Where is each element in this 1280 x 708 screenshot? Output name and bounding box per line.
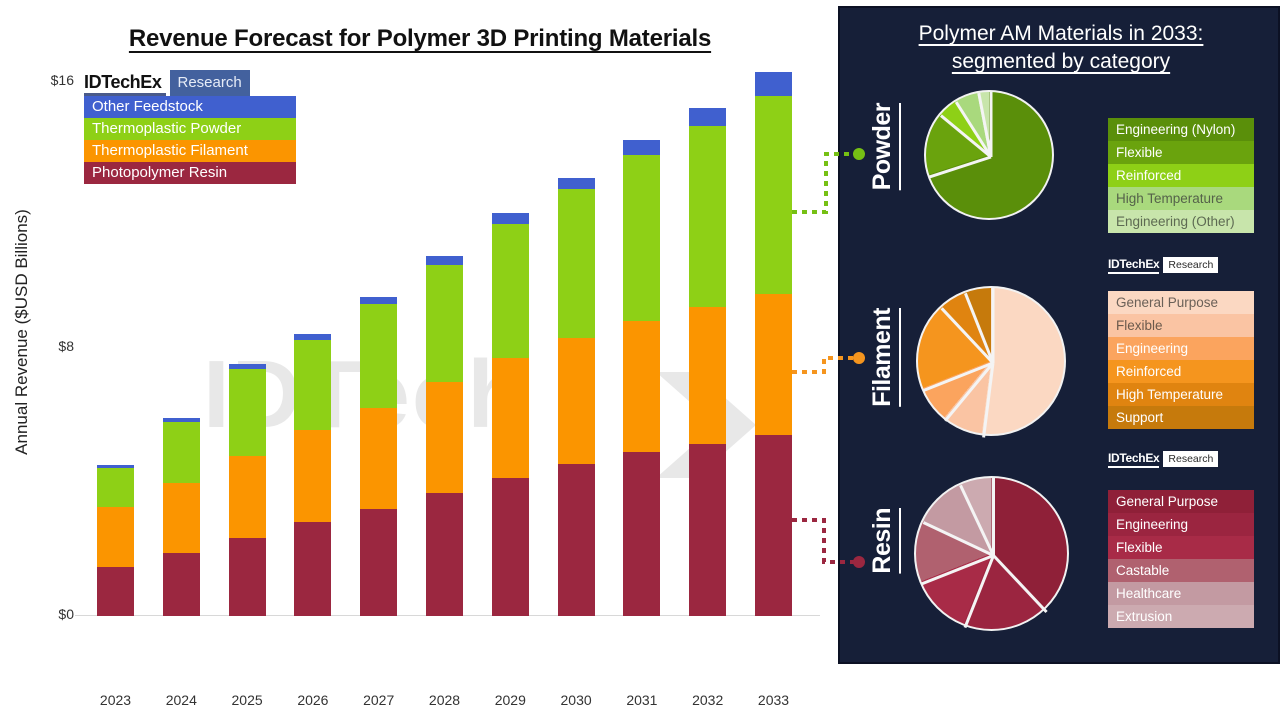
brand-research-badge: Research [170, 70, 250, 96]
legend-item-photopolymer-resin[interactable]: Photopolymer Resin [84, 162, 296, 184]
pie-dividers-resin [914, 476, 1073, 635]
brand-research-badge: Research [1163, 451, 1218, 467]
bar-segment-photopolymer-resin [163, 553, 200, 616]
pie-legend-item-engineering[interactable]: Engineering [1108, 337, 1254, 360]
pie-legend-item-general-purpose[interactable]: General Purpose [1108, 490, 1254, 513]
brand-logo-mini-2: IDTechExResearch [1108, 450, 1218, 468]
bar-segment-other-feedstock [558, 178, 595, 190]
pie-legend-item-healthcare[interactable]: Healthcare [1108, 582, 1254, 605]
x-tick-2026: 2026 [283, 692, 343, 708]
y-tick-0: $0 [30, 606, 74, 622]
pie-legend-item-castable[interactable]: Castable [1108, 559, 1254, 582]
bar-segment-thermoplastic-filament [97, 507, 134, 567]
y-tick-16: $16 [30, 72, 74, 88]
pie-dividers-filament [916, 286, 1070, 440]
bar-segment-other-feedstock [360, 297, 397, 304]
bar-segment-thermoplastic-powder [558, 189, 595, 337]
category-breakdown-panel: Polymer AM Materials in 2033: segmented … [838, 6, 1280, 664]
pie-legend-item-engineering-other-[interactable]: Engineering (Other) [1108, 210, 1254, 233]
legend-item-thermoplastic-filament[interactable]: Thermoplastic Filament [84, 140, 296, 162]
y-tick-8: $8 [30, 338, 74, 354]
pie-legend-item-support[interactable]: Support [1108, 406, 1254, 429]
right-panel-title: Polymer AM Materials in 2033: segmented … [852, 20, 1270, 76]
pie-legend-item-engineering-nylon-[interactable]: Engineering (Nylon) [1108, 118, 1254, 141]
legend-item-thermoplastic-powder[interactable]: Thermoplastic Powder [84, 118, 296, 140]
bar-2023[interactable] [97, 465, 134, 616]
bar-segment-thermoplastic-filament [492, 358, 529, 477]
bar-2031[interactable] [623, 140, 660, 616]
pie-legend-item-extrusion[interactable]: Extrusion [1108, 605, 1254, 628]
bar-segment-photopolymer-resin [229, 538, 266, 616]
bar-segment-thermoplastic-powder [294, 340, 331, 430]
bar-segment-thermoplastic-filament [426, 382, 463, 493]
pie-legend-item-flexible[interactable]: Flexible [1108, 536, 1254, 559]
x-tick-2032: 2032 [678, 692, 738, 708]
pie-legend-item-reinforced[interactable]: Reinforced [1108, 164, 1254, 187]
bar-segment-photopolymer-resin [623, 452, 660, 616]
bar-segment-photopolymer-resin [689, 444, 726, 616]
brand-research-badge: Research [1163, 257, 1218, 273]
pie-legend-item-flexible[interactable]: Flexible [1108, 141, 1254, 164]
bar-2029[interactable] [492, 213, 529, 616]
y-axis-ticks: $16 $8 $0 [20, 0, 74, 670]
bar-segment-photopolymer-resin [426, 493, 463, 616]
bar-segment-photopolymer-resin [492, 478, 529, 616]
bar-segment-thermoplastic-powder [360, 304, 397, 408]
pie-legend-resin: General PurposeEngineeringFlexibleCastab… [1108, 490, 1254, 628]
brand-logo: IDTechEx Research [84, 70, 296, 96]
bar-segment-photopolymer-resin [97, 567, 134, 616]
bar-segment-other-feedstock [426, 256, 463, 265]
pie-legend-item-general-purpose[interactable]: General Purpose [1108, 291, 1254, 314]
x-tick-2024: 2024 [151, 692, 211, 708]
legend-item-other-feedstock[interactable]: Other Feedstock [84, 96, 296, 118]
bar-segment-thermoplastic-powder [492, 224, 529, 359]
bar-2030[interactable] [558, 178, 595, 616]
bar-segment-photopolymer-resin [755, 435, 792, 616]
slide-root: Revenue Forecast for Polymer 3D Printing… [0, 0, 1280, 670]
bar-segment-photopolymer-resin [360, 509, 397, 616]
brand-name: IDTechEx [1108, 451, 1159, 468]
x-tick-2025: 2025 [217, 692, 277, 708]
pie-legend-item-high-temperature[interactable]: High Temperature [1108, 187, 1254, 210]
bar-segment-thermoplastic-filament [755, 294, 792, 436]
bar-segment-thermoplastic-powder [163, 422, 200, 483]
bar-segment-other-feedstock [689, 108, 726, 127]
x-tick-2033: 2033 [744, 692, 804, 708]
bar-segment-thermoplastic-filament [163, 483, 200, 553]
brand-name: IDTechEx [1108, 257, 1159, 274]
bar-2033[interactable] [755, 72, 792, 616]
pie-legend-item-high-temperature[interactable]: High Temperature [1108, 383, 1254, 406]
brand-logo-mini-1: IDTechExResearch [1108, 256, 1218, 274]
bar-segment-thermoplastic-powder [689, 126, 726, 307]
bar-2026[interactable] [294, 334, 331, 616]
bar-segment-thermoplastic-powder [755, 96, 792, 294]
bar-2032[interactable] [689, 108, 726, 616]
bar-segment-thermoplastic-filament [689, 307, 726, 444]
x-tick-2031: 2031 [612, 692, 672, 708]
bar-segment-photopolymer-resin [558, 464, 595, 616]
bar-segment-other-feedstock [492, 213, 529, 223]
bar-segment-photopolymer-resin [294, 522, 331, 616]
pie-legend-powder: Engineering (Nylon)FlexibleReinforcedHig… [1108, 118, 1254, 233]
bar-segment-other-feedstock [755, 72, 792, 96]
bar-segment-thermoplastic-filament [623, 321, 660, 452]
right-title-line-2: segmented by category [852, 48, 1270, 76]
bar-segment-thermoplastic-filament [360, 408, 397, 509]
chart-legend: IDTechEx Research Other FeedstockThermop… [84, 70, 296, 184]
right-title-line-1: Polymer AM Materials in 2033: [852, 20, 1270, 48]
bar-chart-panel: Revenue Forecast for Polymer 3D Printing… [0, 0, 832, 670]
bar-segment-thermoplastic-filament [294, 430, 331, 522]
bar-segment-thermoplastic-powder [97, 468, 134, 507]
legend-items: Other FeedstockThermoplastic PowderTherm… [84, 96, 296, 184]
category-label-resin: Resin [868, 508, 897, 574]
x-tick-2029: 2029 [480, 692, 540, 708]
category-label-filament: Filament [868, 308, 897, 407]
bar-segment-thermoplastic-powder [229, 369, 266, 456]
bar-segment-thermoplastic-filament [229, 456, 266, 538]
bar-2027[interactable] [360, 297, 397, 616]
bar-segment-thermoplastic-powder [623, 155, 660, 321]
connector-dot-resin [853, 556, 865, 568]
pie-legend-item-engineering[interactable]: Engineering [1108, 513, 1254, 536]
bar-segment-other-feedstock [623, 140, 660, 155]
connector-dot-filament [853, 352, 865, 364]
x-tick-2028: 2028 [415, 692, 475, 708]
pie-legend-item-flexible[interactable]: Flexible [1108, 314, 1254, 337]
connector-resin [790, 510, 870, 580]
category-label-powder: Powder [868, 103, 897, 190]
bar-2028[interactable] [426, 256, 463, 616]
bar-segment-thermoplastic-powder [426, 265, 463, 383]
pie-legend-item-reinforced[interactable]: Reinforced [1108, 360, 1254, 383]
brand-name: IDTechEx [84, 70, 166, 96]
x-tick-2030: 2030 [546, 692, 606, 708]
bar-2024[interactable] [163, 418, 200, 616]
page-title: Revenue Forecast for Polymer 3D Printing… [70, 25, 770, 53]
pie-legend-filament: General PurposeFlexibleEngineeringReinfo… [1108, 291, 1254, 429]
pie-dividers-powder [924, 90, 1058, 224]
x-tick-2023: 2023 [86, 692, 146, 708]
x-tick-2027: 2027 [349, 692, 409, 708]
bar-segment-thermoplastic-filament [558, 338, 595, 464]
bar-2025[interactable] [229, 364, 266, 616]
connector-dot-powder [853, 148, 865, 160]
